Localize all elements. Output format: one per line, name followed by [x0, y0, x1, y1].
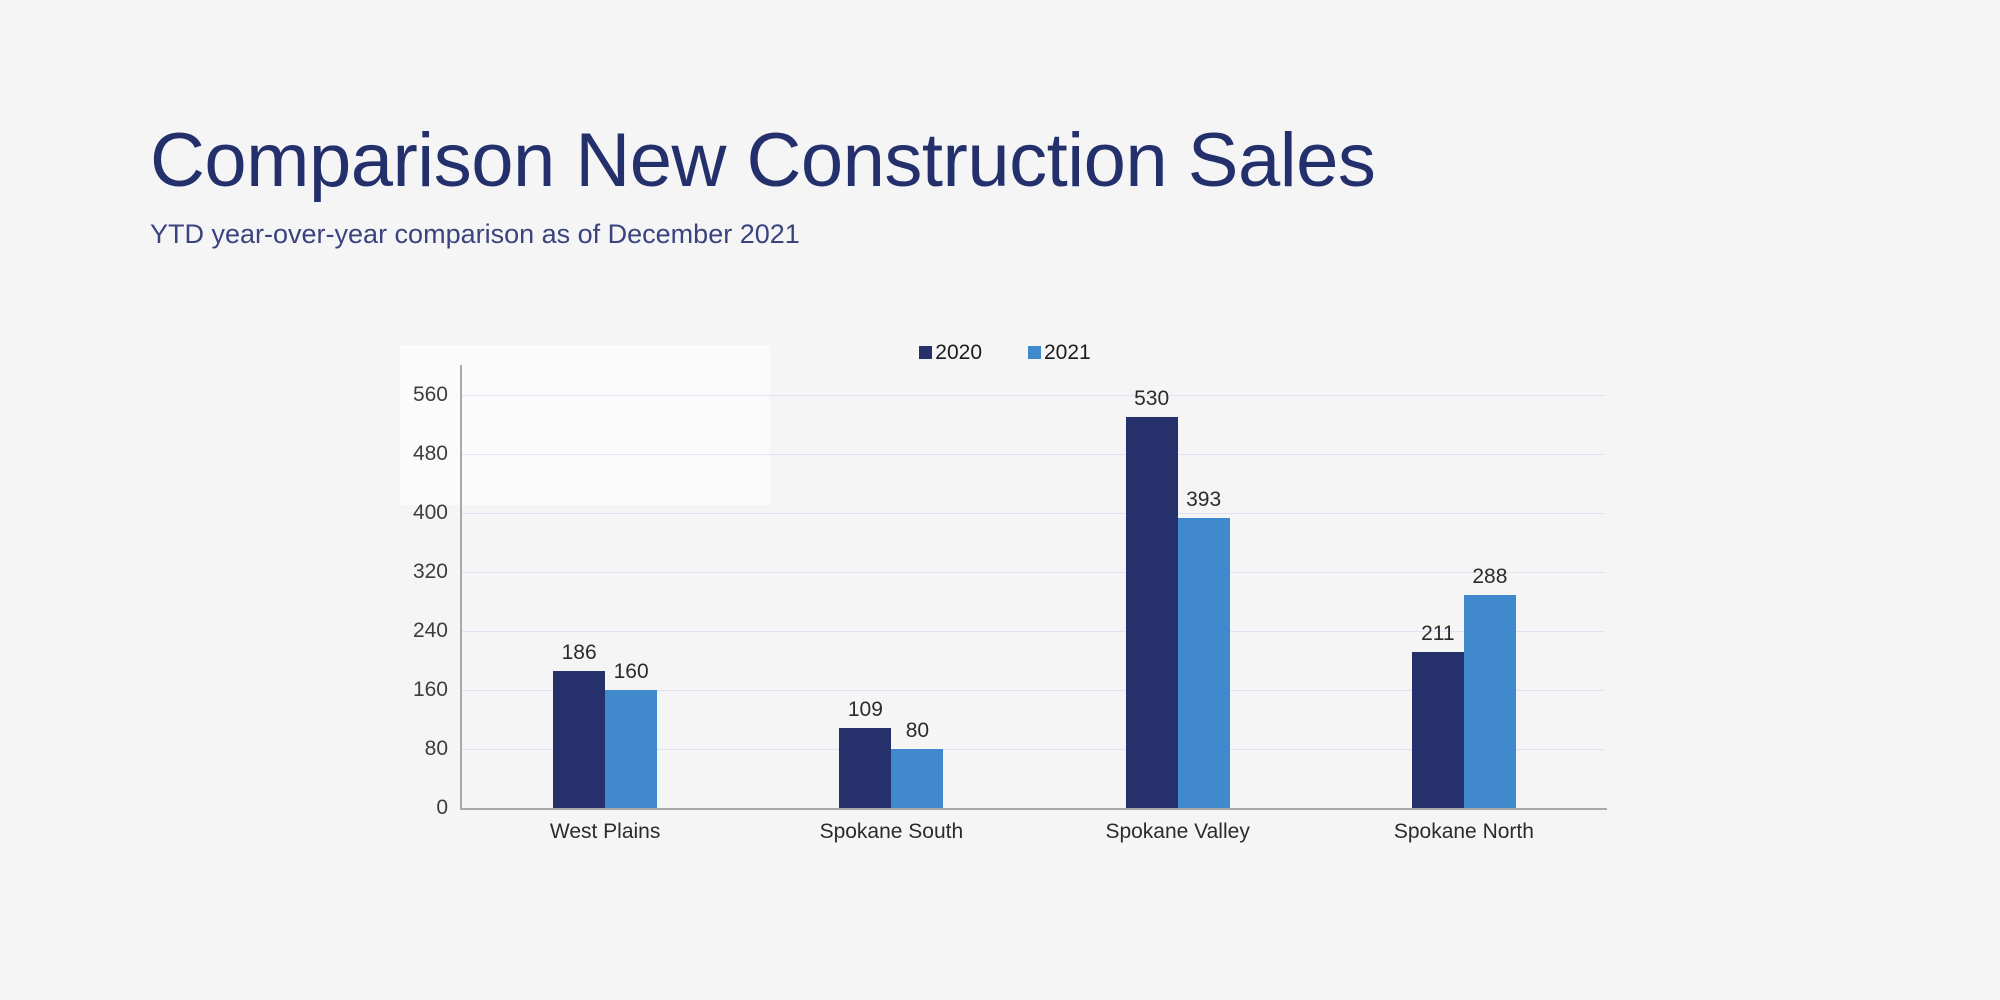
bar-value-label: 211 — [1421, 622, 1454, 646]
y-axis-tick-label: 80 — [425, 737, 448, 761]
bar[interactable]: 211 — [1412, 652, 1464, 808]
y-axis-tick-label: 560 — [413, 383, 448, 407]
legend-label: 2020 — [935, 342, 982, 363]
page-subtitle: YTD year-over-year comparison as of Dece… — [150, 218, 1850, 250]
bar-value-label: 186 — [562, 641, 597, 665]
x-axis-category-label: Spokane North — [1321, 820, 1607, 844]
y-axis-tick-labels: 080160240320400480560 — [400, 365, 448, 808]
x-axis-category-label: West Plains — [462, 820, 748, 844]
x-axis-line — [460, 808, 1607, 810]
chart-legend: 20202021 — [400, 340, 1610, 364]
bar[interactable]: 160 — [605, 690, 657, 808]
bar[interactable]: 186 — [553, 671, 605, 808]
bar-group: 10980 — [839, 365, 943, 808]
y-axis-tick-label: 0 — [436, 796, 448, 820]
bar[interactable]: 80 — [891, 749, 943, 808]
x-axis-category-label: Spokane Valley — [1035, 820, 1321, 844]
y-axis-tick-label: 480 — [413, 442, 448, 466]
bar-value-label: 393 — [1186, 488, 1221, 512]
bar-value-label: 109 — [848, 698, 883, 722]
y-axis-tick-label: 400 — [413, 501, 448, 525]
bar[interactable]: 393 — [1178, 518, 1230, 808]
y-axis-tick-label: 160 — [413, 678, 448, 702]
x-axis-category-label: Spokane South — [748, 820, 1034, 844]
bars-layer: 18616010980530393211288 — [462, 365, 1607, 808]
bar-group: 186160 — [553, 365, 657, 808]
bar[interactable]: 288 — [1464, 595, 1516, 808]
legend-label: 2021 — [1044, 342, 1091, 363]
bar-value-label: 160 — [614, 660, 649, 684]
y-axis-tick-label: 240 — [413, 619, 448, 643]
legend-item-2020[interactable]: 2020 — [919, 342, 982, 363]
bar-chart: 080160240320400480560 20202021 186160109… — [400, 340, 1610, 840]
bar-value-label: 530 — [1134, 387, 1169, 411]
bar-value-label: 288 — [1472, 565, 1507, 589]
legend-swatch-icon — [919, 346, 932, 359]
legend-item-2021[interactable]: 2021 — [1028, 342, 1091, 363]
bar-value-label: 80 — [906, 719, 929, 743]
page-title: Comparison New Construction Sales — [150, 118, 1850, 204]
bar[interactable]: 109 — [839, 728, 891, 808]
bar-group: 530393 — [1126, 365, 1230, 808]
bar-group: 211288 — [1412, 365, 1516, 808]
bar[interactable]: 530 — [1126, 417, 1178, 808]
x-axis-category-labels: West PlainsSpokane SouthSpokane ValleySp… — [462, 820, 1607, 860]
y-axis-tick-label: 320 — [413, 560, 448, 584]
header: Comparison New Construction Sales YTD ye… — [150, 118, 1850, 250]
legend-swatch-icon — [1028, 346, 1041, 359]
